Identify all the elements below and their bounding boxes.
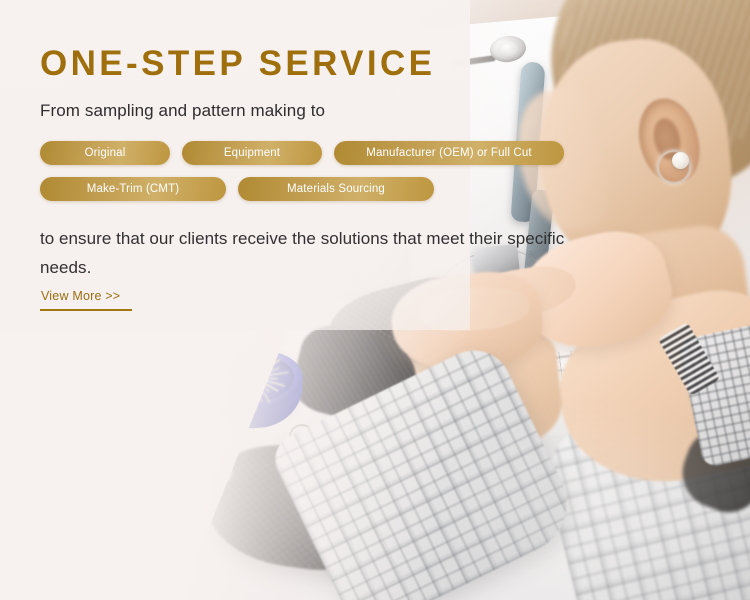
banner-content: ONE-STEP SERVICE From sampling and patte… xyxy=(0,0,640,600)
service-tag-list: Original Equipment Manufacturer (OEM) or… xyxy=(40,141,600,213)
service-tag-make-trim[interactable]: Make-Trim (CMT) xyxy=(40,177,226,201)
banner-subtitle: From sampling and pattern making to xyxy=(40,101,325,121)
service-tag-materials-sourcing[interactable]: Materials Sourcing xyxy=(238,177,434,201)
banner-body-text: to ensure that our clients receive the s… xyxy=(40,224,580,282)
view-more-link[interactable]: View More >> xyxy=(41,289,120,309)
service-tag-equipment[interactable]: Equipment xyxy=(182,141,322,165)
view-more-underline xyxy=(40,309,132,311)
service-tag-row-2: Make-Trim (CMT) Materials Sourcing xyxy=(40,177,600,201)
service-tag-original[interactable]: Original xyxy=(40,141,170,165)
service-tag-row-1: Original Equipment Manufacturer (OEM) or… xyxy=(40,141,600,165)
service-tag-manufacturer[interactable]: Manufacturer (OEM) or Full Cut xyxy=(334,141,564,165)
service-banner: ⎈ xyxy=(0,0,750,600)
page-title: ONE-STEP SERVICE xyxy=(40,44,435,84)
pearl-earring xyxy=(672,152,689,169)
